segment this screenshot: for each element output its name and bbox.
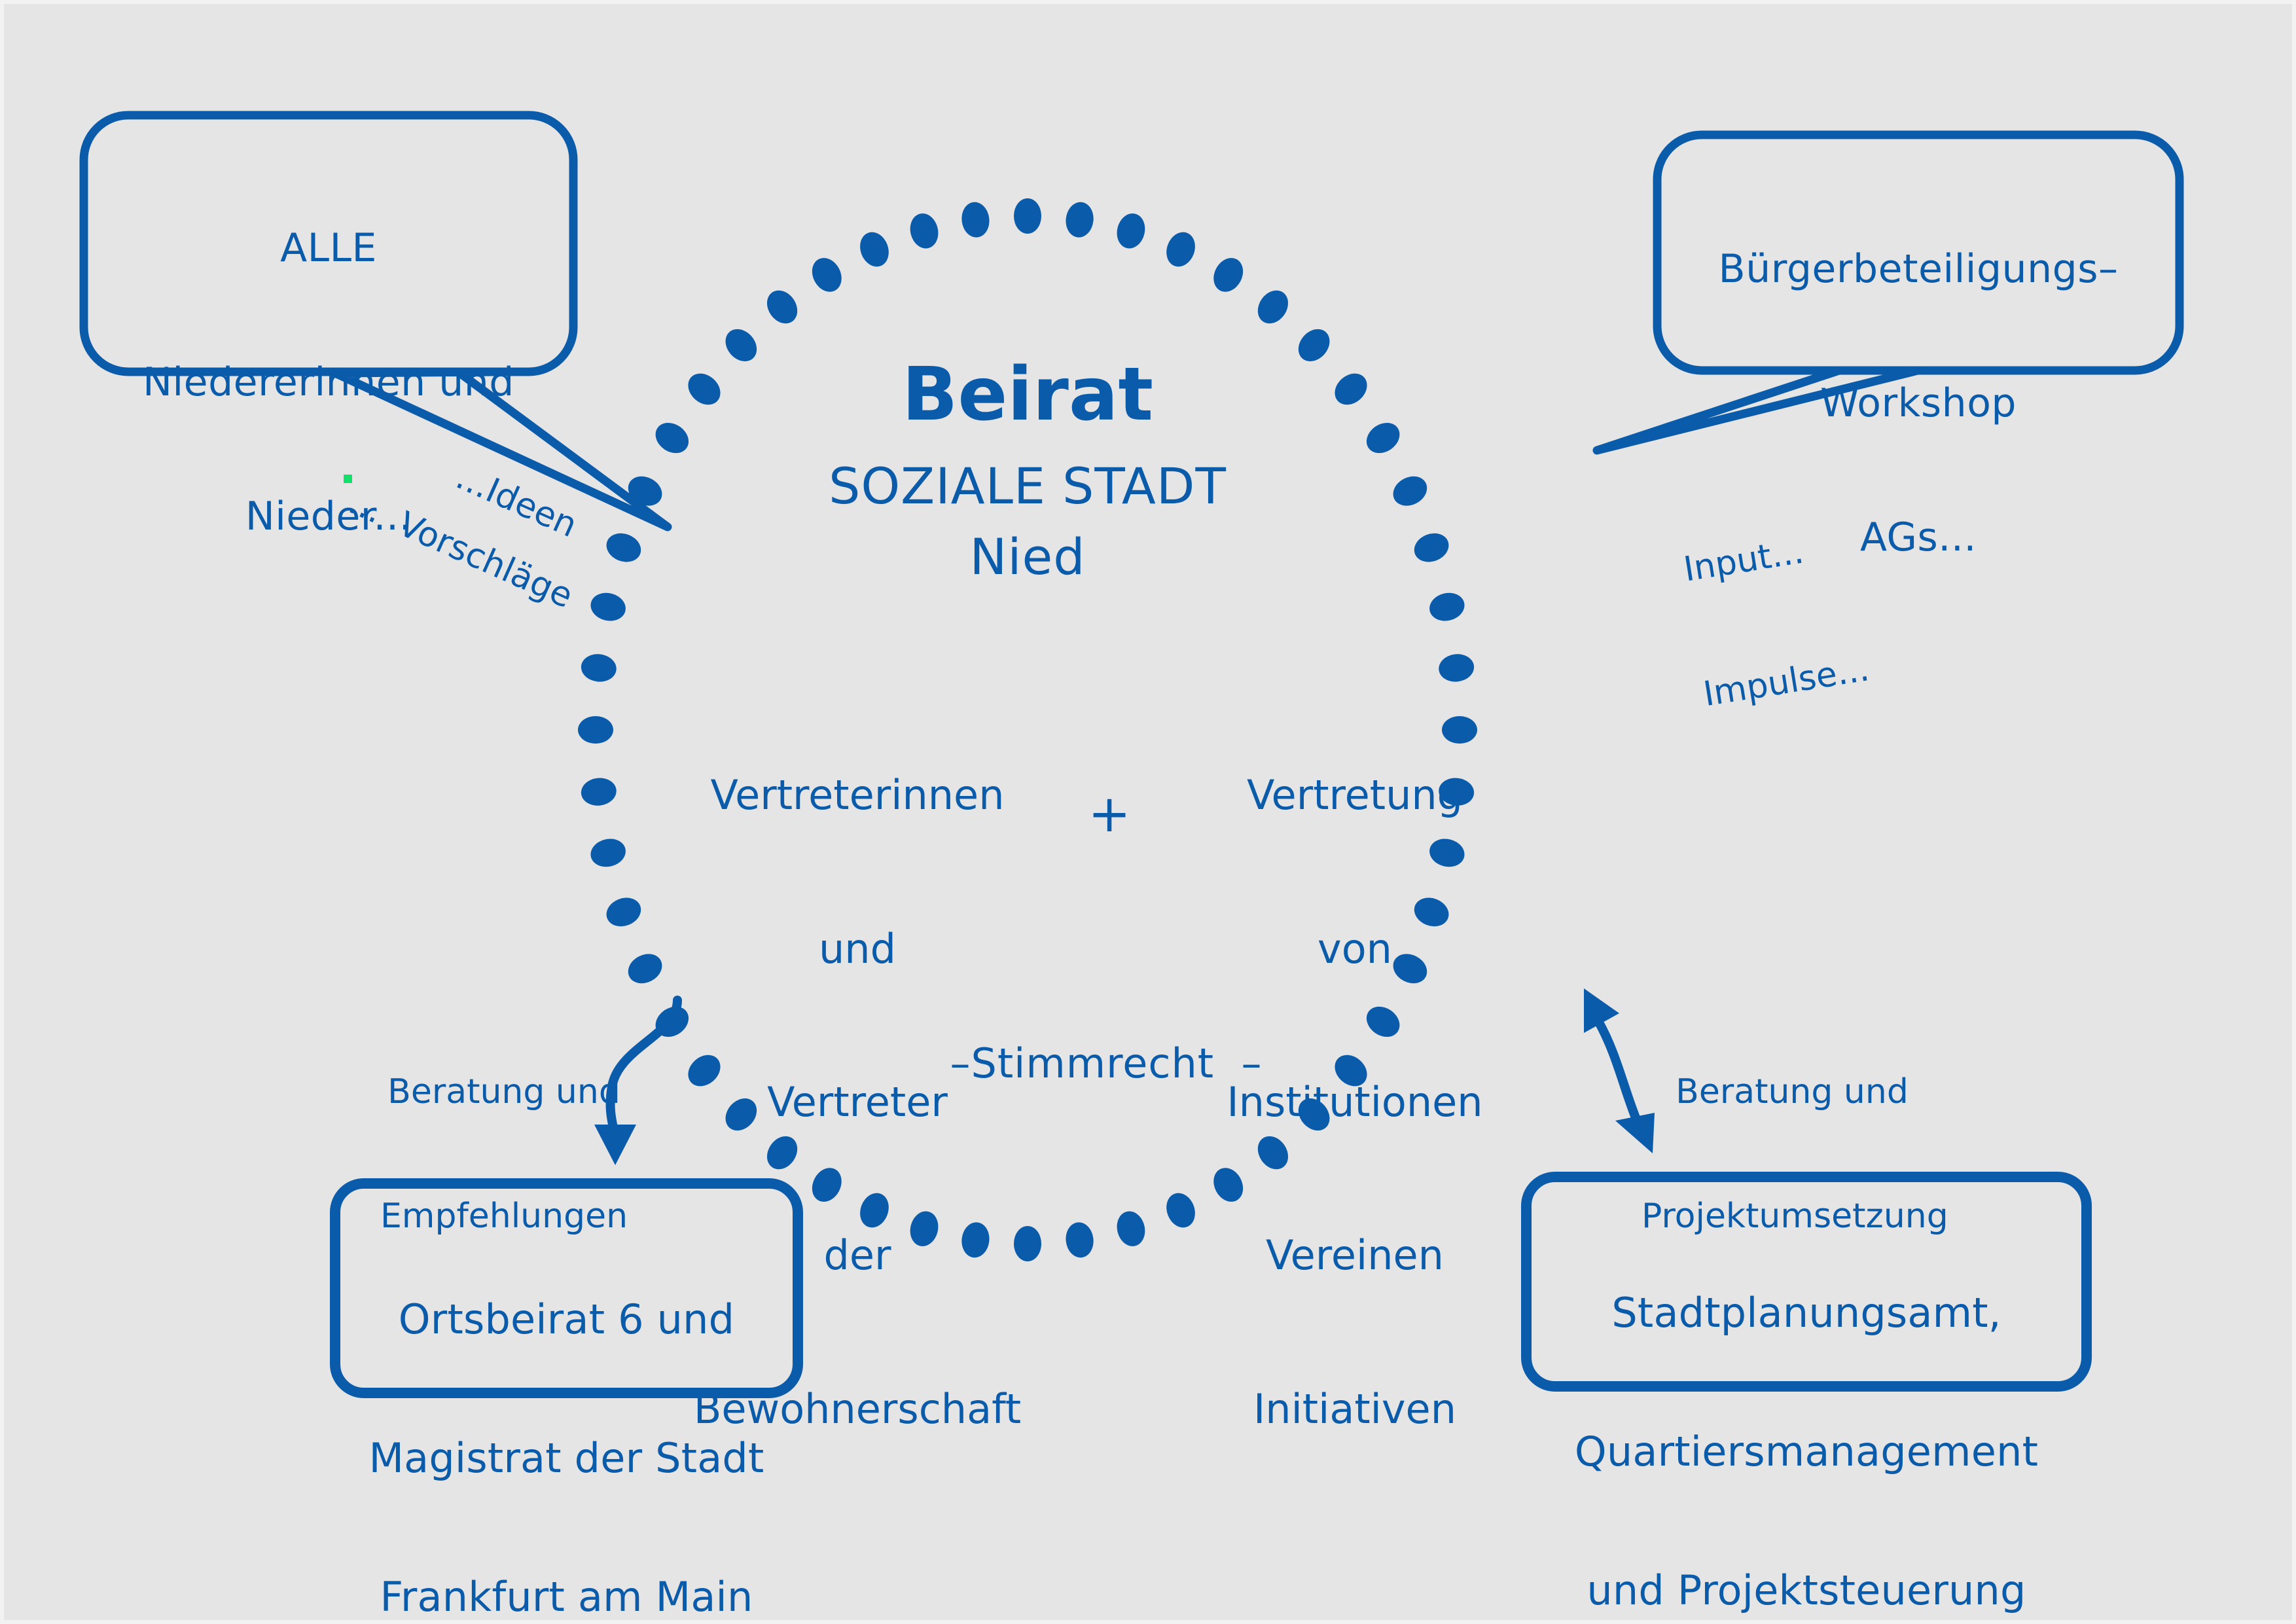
ring-dot (806, 253, 847, 297)
bubble-top-left-line2: Niedererinnen und (84, 360, 573, 405)
ring-dot (761, 285, 803, 329)
ring-dot (578, 716, 613, 744)
center-subtitle-line1: SOZIALE STADT (746, 458, 1309, 515)
ring-dot (1208, 253, 1249, 297)
ring-dot (602, 528, 645, 566)
annotation-input: Input... (1681, 523, 1852, 591)
box-br-line1: Stadtplanungsamt, (1526, 1290, 2087, 1337)
center-right-column: Vertretung von Institutionen Vereinen In… (1172, 668, 1538, 1537)
ring-dot (579, 776, 618, 808)
bubble-top-right-line2: Workshop (1657, 381, 2179, 425)
bubble-top-left-line1: ALLE (84, 226, 573, 270)
annotation-be-line1: Beratung und (367, 1072, 641, 1113)
annotation-bp-line1: Beratung und (1641, 1072, 1943, 1113)
ring-dot (602, 893, 645, 931)
left-col-line-0: Vertreterinnen (661, 770, 1054, 821)
ring-dot (1113, 211, 1149, 251)
ring-dot (682, 367, 726, 411)
page-title: Beirat (746, 353, 1309, 437)
ring-dot (1427, 589, 1467, 624)
ring-dot (1064, 200, 1095, 239)
ring-dot (1388, 471, 1432, 511)
ring-dot (1014, 198, 1041, 234)
annotation-impulse: Impulse... (1700, 648, 1872, 716)
ring-dot (906, 211, 942, 251)
box-bl-line3: Frankfurt am Main (335, 1574, 798, 1621)
ring-dot (960, 200, 991, 239)
ring-dot (588, 835, 628, 871)
ring-dot (1251, 285, 1294, 329)
box-bl-line1: Ortsbeirat 6 und (335, 1297, 798, 1343)
left-col-line-1: und (661, 924, 1054, 975)
box-bottom-left-text: Ortsbeirat 6 und Magistrat der Stadt Fra… (335, 1204, 798, 1624)
right-col-line-0: Vertretung (1172, 770, 1538, 821)
diagram-canvas: ALLE Niedererinnen und Nieder... Bürgerb… (0, 0, 2296, 1624)
ring-dot (1064, 1221, 1095, 1259)
right-col-line-3: Vereinen (1172, 1230, 1538, 1281)
ring-dot (1329, 367, 1373, 411)
ring-dot (1361, 416, 1405, 459)
center-footer-stimmrecht: –Stimmrecht – (844, 1041, 1368, 1087)
right-col-line-1: von (1172, 924, 1538, 975)
ring-dot (650, 416, 694, 459)
ring-dot (1410, 528, 1452, 566)
ring-dot (579, 652, 618, 683)
ring-dot (1162, 228, 1200, 270)
ring-dot (588, 589, 628, 624)
ring-dot (855, 228, 893, 270)
right-col-line-4: Initiativen (1172, 1384, 1538, 1435)
box-bottom-right-text: Stadtplanungsamt, Quartiersmanagement un… (1526, 1198, 2087, 1624)
green-dot-artifact (344, 475, 352, 483)
box-br-line2: Quartiersmanagement (1526, 1429, 2087, 1475)
bubble-top-right-line1: Bürgerbeteiligungs– (1657, 247, 2179, 291)
ring-dot (1113, 1208, 1149, 1249)
center-subtitle-line2: Nied (746, 529, 1309, 586)
box-bl-line2: Magistrat der Stadt (335, 1435, 798, 1482)
box-br-line3: und Projektsteuerung (1526, 1568, 2087, 1614)
plus-operator: + (1073, 785, 1145, 844)
